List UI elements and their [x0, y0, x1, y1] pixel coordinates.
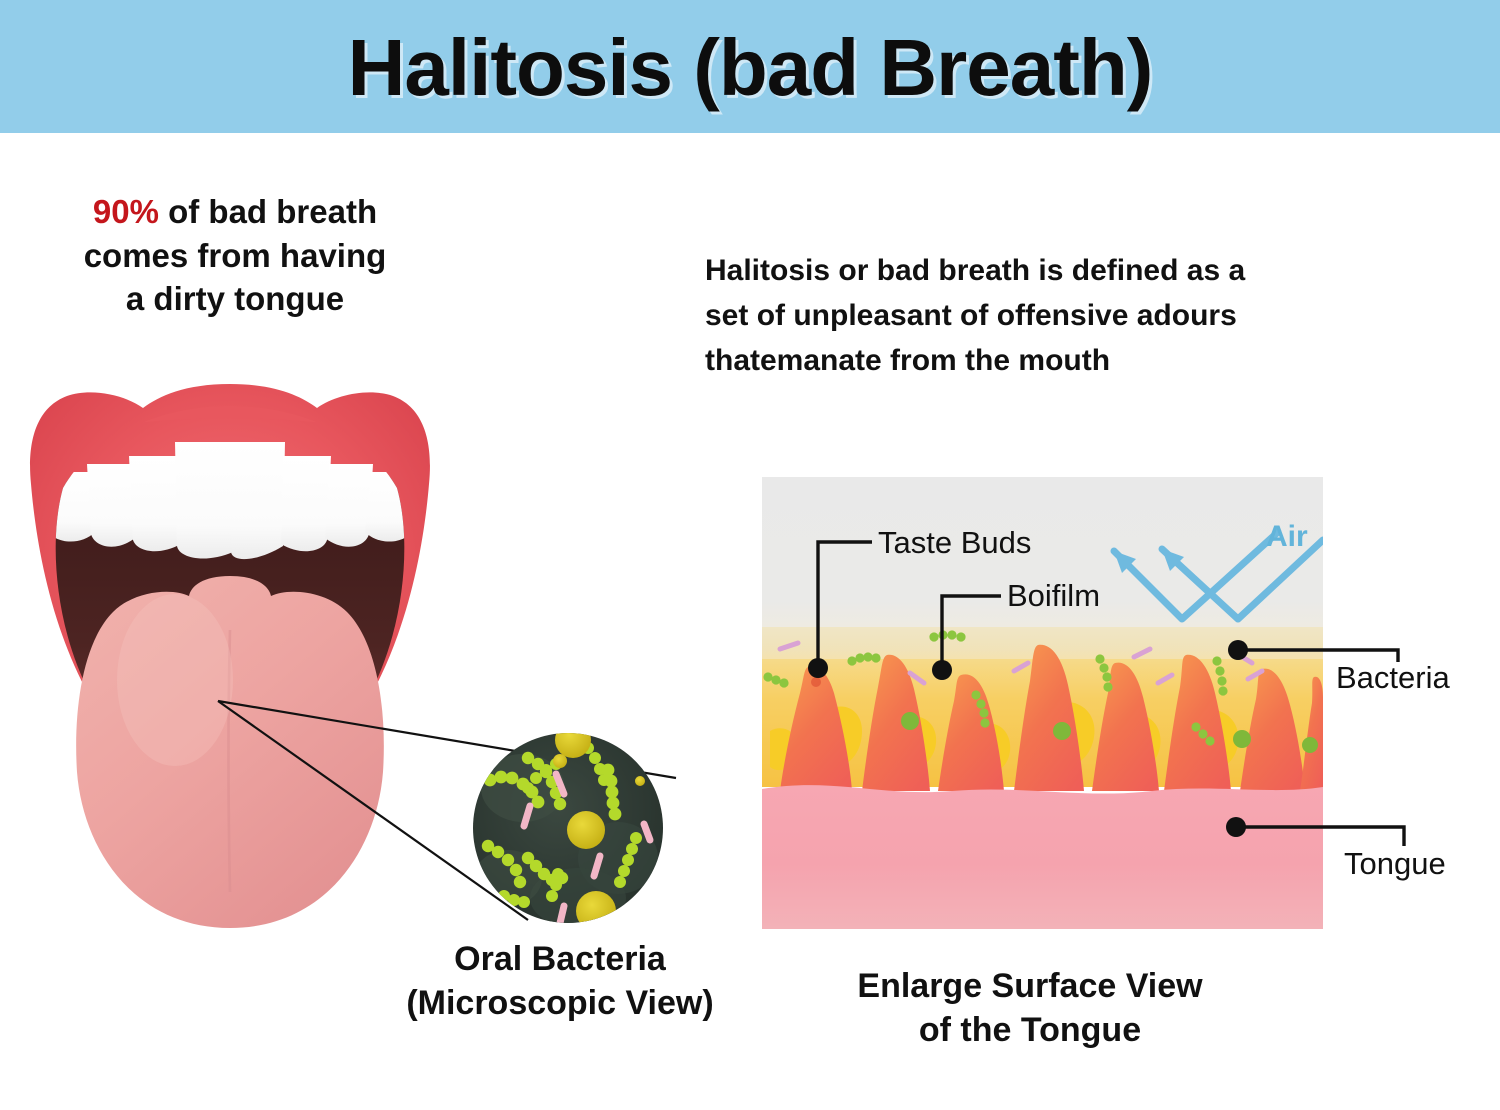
stat-percent: 90%: [93, 193, 159, 230]
taste-pore: [811, 677, 821, 687]
microscope-field: [468, 728, 668, 928]
oral-bacteria-microscope-circle: [468, 728, 668, 928]
caption-oral-bacteria-line2: (Microscopic View): [406, 984, 713, 1022]
infographic-page: Halitosis (bad Breath) 90% of bad breath…: [0, 0, 1500, 1110]
stat-line2: comes from having: [84, 237, 387, 274]
stat-line1-rest: of bad breath: [159, 193, 377, 230]
definition-line3: thatemanate from the mouth: [705, 344, 1110, 377]
page-title: Halitosis (bad Breath): [0, 26, 1500, 110]
definition-text-block: Halitosis or bad breath is defined as a …: [705, 248, 1405, 383]
caption-enlarge-line2: of the Tongue: [919, 1011, 1141, 1049]
caption-enlarge-surface: Enlarge Surface View of the Tongue: [815, 965, 1245, 1052]
open-mouth-illustration: [25, 380, 435, 940]
surface-svg: [762, 477, 1323, 929]
tongue-surface-diagram: [762, 477, 1323, 929]
label-biofilm: Boifilm: [1007, 580, 1100, 611]
stat-line3: a dirty tongue: [126, 280, 344, 317]
definition-line2: set of unpleasant of offensive adours: [705, 299, 1237, 332]
label-tongue: Tongue: [1344, 848, 1446, 879]
label-bacteria: Bacteria: [1336, 662, 1450, 693]
header-banner: Halitosis (bad Breath): [0, 0, 1500, 133]
tongue-base: [762, 785, 1323, 929]
caption-oral-bacteria-line1: Oral Bacteria: [454, 940, 666, 978]
microscope-svg: [468, 728, 668, 928]
definition-line1: Halitosis or bad breath is defined as a: [705, 254, 1245, 287]
caption-oral-bacteria: Oral Bacteria (Microscopic View): [360, 938, 760, 1025]
label-taste-buds: Taste Buds: [878, 527, 1031, 558]
tongue-highlight: [117, 594, 233, 766]
stat-text-block: 90% of bad breath comes from having a di…: [40, 190, 430, 321]
label-air: Air: [1266, 522, 1308, 552]
caption-enlarge-line1: Enlarge Surface View: [857, 967, 1202, 1005]
mouth-svg: [25, 380, 435, 940]
